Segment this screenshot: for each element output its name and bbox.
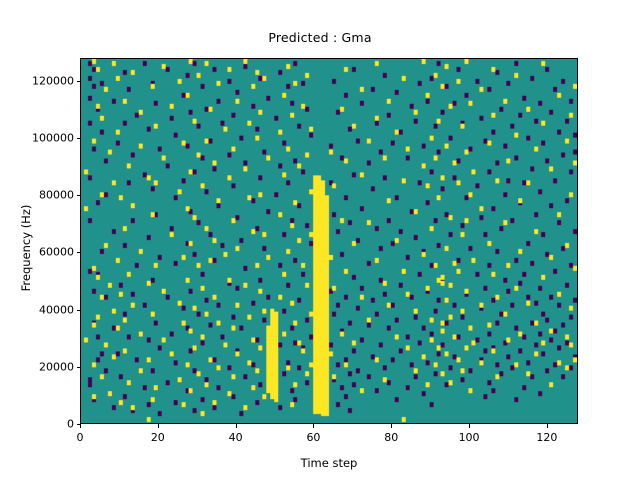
y-tick-label: 40000 bbox=[8, 303, 74, 316]
x-axis-label: Time step bbox=[80, 456, 578, 470]
y-tick-label: 80000 bbox=[8, 189, 74, 202]
x-tick-label: 60 bbox=[306, 431, 320, 444]
y-tick-label: 120000 bbox=[8, 74, 74, 87]
y-tick-label: 100000 bbox=[8, 132, 74, 145]
x-tick-mark bbox=[236, 424, 237, 428]
x-tick-label: 100 bbox=[459, 431, 480, 444]
y-tick-mark bbox=[77, 138, 81, 139]
heatmap-mesh bbox=[81, 59, 577, 423]
y-tick-label: 0 bbox=[8, 418, 74, 431]
x-tick-mark bbox=[391, 424, 392, 428]
y-tick-mark bbox=[77, 310, 81, 311]
x-tick-label: 0 bbox=[77, 431, 84, 444]
y-tick-mark bbox=[77, 81, 81, 82]
y-tick-mark bbox=[77, 367, 81, 368]
y-tick-label: 20000 bbox=[8, 360, 74, 373]
x-tick-mark bbox=[80, 424, 81, 428]
x-tick-label: 120 bbox=[536, 431, 557, 444]
x-tick-mark bbox=[313, 424, 314, 428]
x-tick-label: 20 bbox=[151, 431, 165, 444]
y-axis-label: Frequency (Hz) bbox=[19, 168, 33, 328]
matplotlib-figure: Predicted : Gma 020000400006000080000100… bbox=[0, 0, 640, 480]
x-tick-mark bbox=[158, 424, 159, 428]
y-tick-mark bbox=[77, 195, 81, 196]
y-tick-mark bbox=[77, 252, 81, 253]
x-tick-label: 40 bbox=[229, 431, 243, 444]
x-tick-mark bbox=[469, 424, 470, 428]
heatmap-axes bbox=[80, 58, 578, 424]
chart-title: Predicted : Gma bbox=[0, 30, 640, 45]
y-tick-label: 60000 bbox=[8, 246, 74, 259]
x-tick-mark bbox=[547, 424, 548, 428]
x-tick-label: 80 bbox=[384, 431, 398, 444]
